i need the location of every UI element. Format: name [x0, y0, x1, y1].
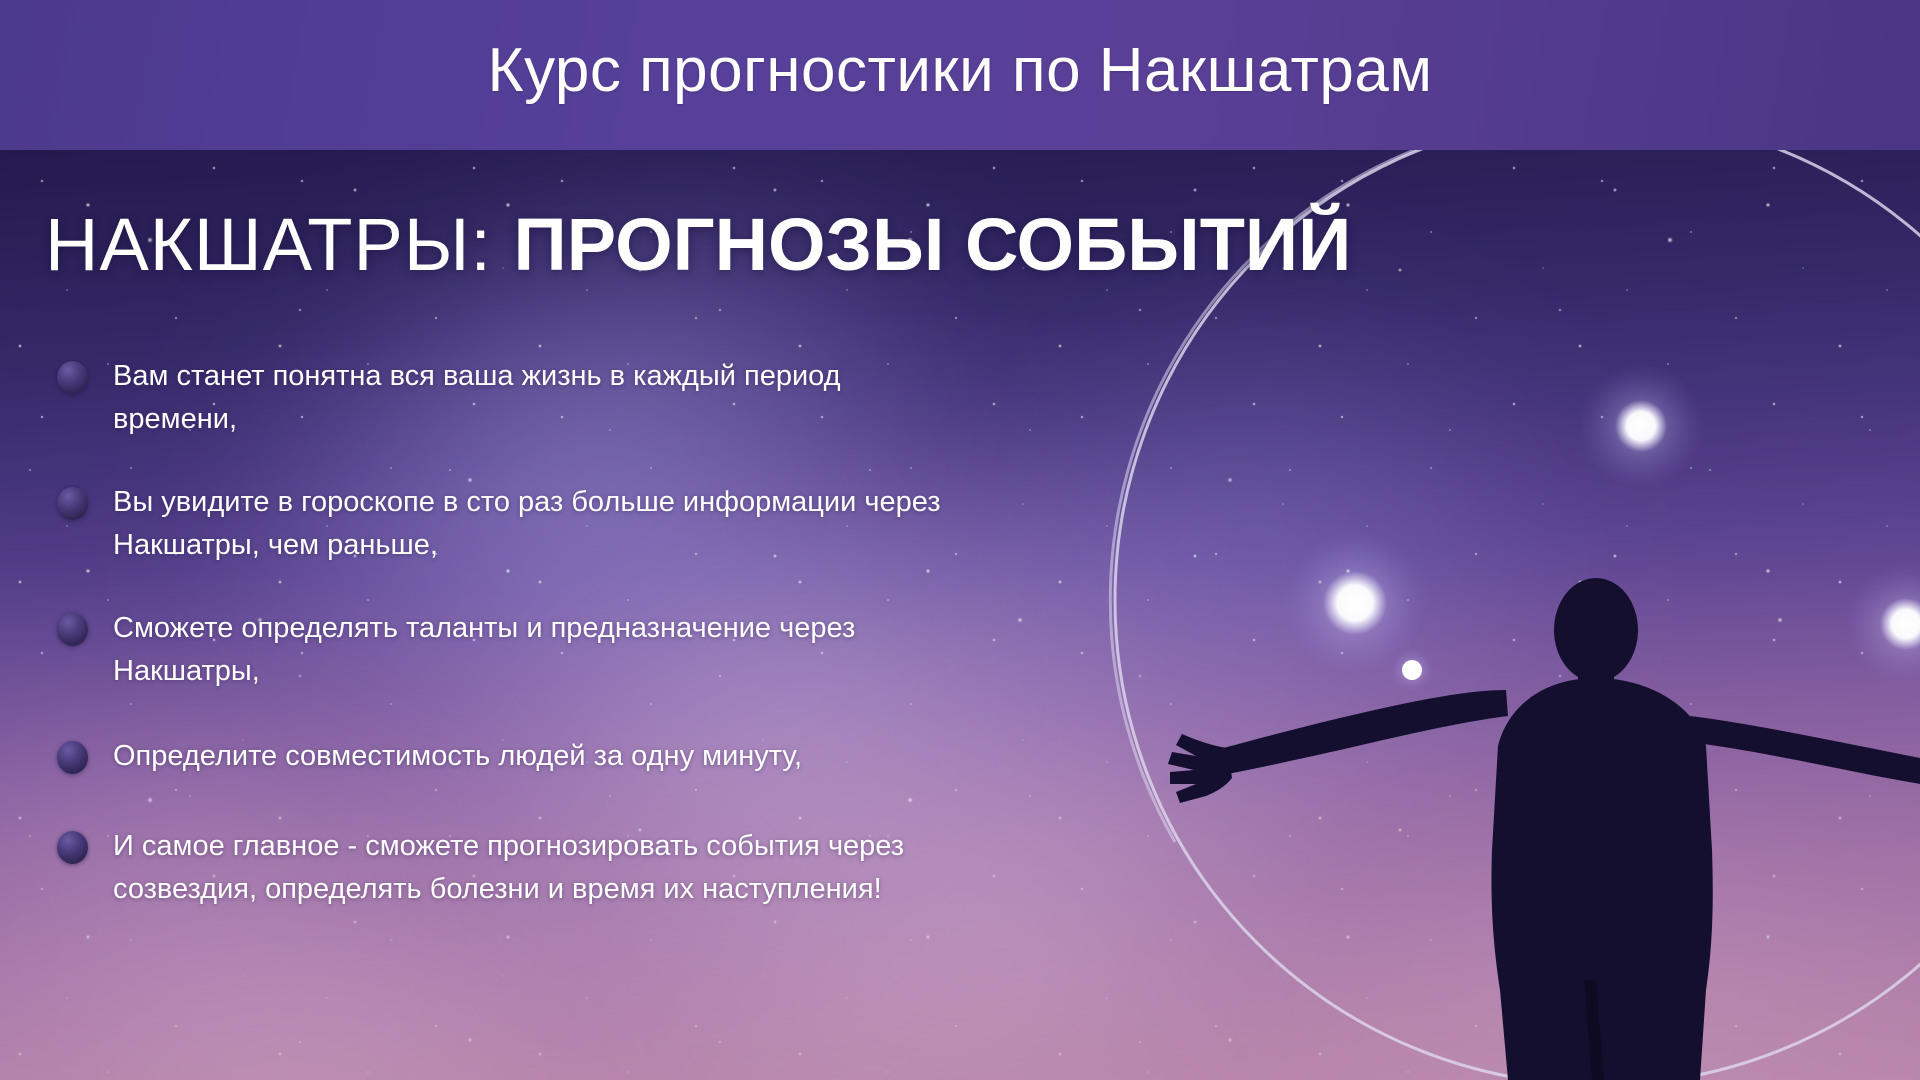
- slide-header-band: Курс прогностики по Накшатрам: [0, 0, 1920, 150]
- list-item: Сможете определять таланты и предназначе…: [45, 607, 1055, 693]
- list-item: Вы увидите в гороскопе в сто раз больше …: [45, 481, 1055, 567]
- list-item-text: И самое главное - сможете прогнозировать…: [113, 830, 904, 905]
- slide-heading-part-1: НАКШАТРЫ:: [45, 203, 514, 286]
- bullet-sphere-icon: [57, 741, 88, 774]
- list-item: Определите совместимость людей за одну м…: [45, 735, 1055, 781]
- list-item: И самое главное - сможете прогнозировать…: [45, 825, 1055, 911]
- list-item-text: Вам станет понятна вся ваша жизнь в кажд…: [113, 360, 841, 435]
- list-item-text: Вы увидите в гороскопе в сто раз больше …: [113, 486, 941, 561]
- bullet-sphere-icon: [57, 831, 88, 864]
- list-item-text: Определите совместимость людей за одну м…: [113, 740, 802, 772]
- course-title: Курс прогностики по Накшатрам: [487, 40, 1432, 102]
- bullet-sphere-icon: [57, 361, 88, 394]
- slide-content: НАКШАТРЫ: ПРОГНОЗЫ СОБЫТИЙ Вам станет по…: [0, 150, 1100, 1080]
- slide-heading-part-2: ПРОГНОЗЫ СОБЫТИЙ: [514, 203, 1352, 286]
- bullet-sphere-icon: [57, 613, 88, 646]
- presentation-slide: Курс прогностики по Накшатрам: [0, 0, 1920, 1080]
- bullet-sphere-icon: [57, 487, 88, 520]
- slide-heading: НАКШАТРЫ: ПРОГНОЗЫ СОБЫТИЙ: [45, 208, 1351, 282]
- list-item-text: Сможете определять таланты и предназначе…: [113, 612, 855, 687]
- benefits-list: Вам станет понятна вся ваша жизнь в кажд…: [45, 355, 1055, 911]
- list-item: Вам станет понятна вся ваша жизнь в кажд…: [45, 355, 1055, 441]
